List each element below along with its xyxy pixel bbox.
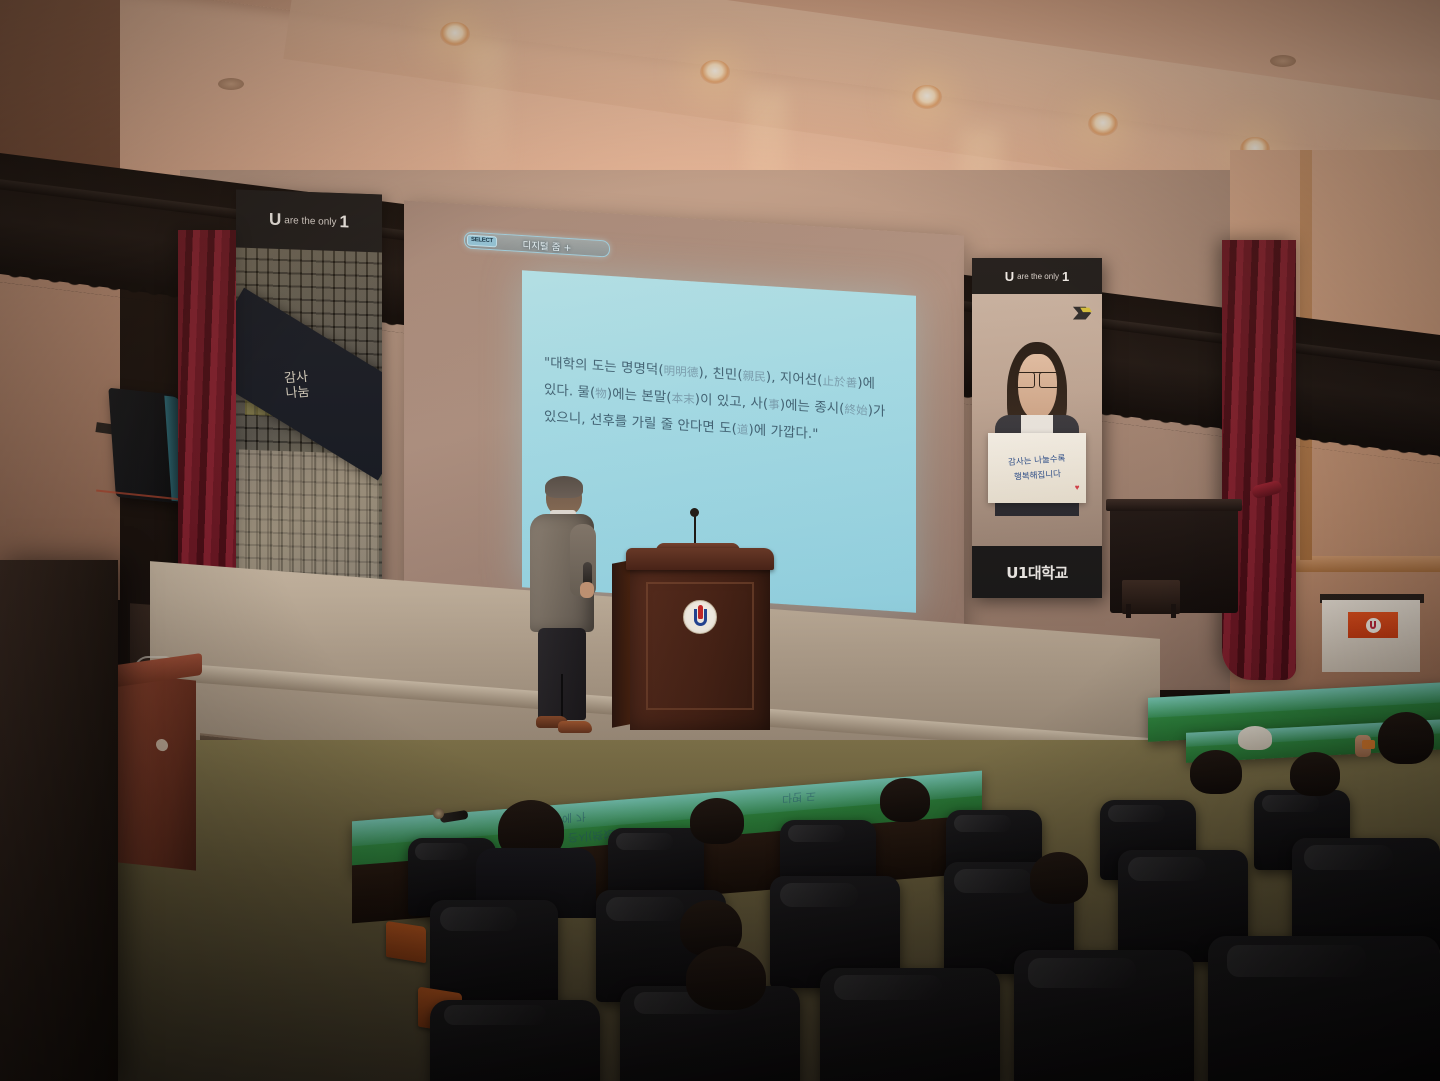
seat-highlight	[1227, 945, 1366, 978]
sign-line-1: 감사는 나눌수록	[1008, 452, 1066, 468]
seat-highlight	[440, 907, 517, 931]
seat-highlight	[415, 843, 468, 860]
u1-crest-icon	[1366, 618, 1381, 633]
ceiling-downlight	[440, 22, 470, 46]
seat-highlight	[954, 815, 1012, 833]
slide-hanja: 明明德	[664, 363, 699, 379]
wall-pa-speaker	[108, 388, 187, 505]
audience-head	[880, 778, 930, 822]
banner-left-photo-mosaic: 감사 나눔	[236, 247, 382, 600]
banner-left-one: 1	[340, 212, 349, 232]
slide-hanja: 親民	[743, 369, 766, 385]
banner-left-mid: are the only	[284, 215, 336, 228]
presenter-hand	[580, 582, 594, 598]
banner-right-photo: 감사는 나눌수록 행복해집니다 ♥	[972, 294, 1102, 546]
seat-highlight	[1108, 805, 1166, 823]
mosaic-lower-block	[239, 449, 379, 586]
banner-right-one: 1	[1062, 269, 1069, 284]
seat	[1208, 936, 1440, 1081]
ceiling-downlight	[1088, 112, 1118, 136]
desk-reflection-text: 다면 도	[782, 788, 816, 807]
slide-hanja: 本末	[672, 391, 695, 407]
ceiling-fixture-ring	[218, 78, 244, 90]
slide-seg: )에는 종시(	[780, 398, 845, 417]
audience-head	[1378, 712, 1434, 764]
piano-lid	[1106, 499, 1242, 511]
foreground-pillar	[0, 560, 118, 1081]
banner-left-tagline: U are the only 1	[236, 189, 382, 252]
seat-armrest	[386, 921, 426, 963]
crest-u-glyph	[1370, 621, 1376, 629]
banner-right-footer: U1대학교	[972, 546, 1102, 598]
crest-u-glyph	[694, 609, 707, 626]
banner-person-sign: 감사는 나눌수록 행복해집니다 ♥	[988, 433, 1087, 504]
audience-head	[1030, 852, 1088, 904]
seat-highlight	[780, 883, 858, 908]
audience-head	[686, 946, 766, 1010]
seat-highlight	[788, 825, 846, 843]
ceiling-downlight	[912, 85, 942, 109]
slide-text-block: "대학의 도는 명명덕(明明德), 친민(親民), 지어선(止於善)에 있다. …	[544, 350, 902, 454]
slide-hanja: 物	[595, 386, 607, 401]
sign-heart-icon: ♥	[1075, 483, 1080, 492]
banner-left-u: U	[269, 210, 281, 230]
presenter-hair	[545, 476, 583, 498]
bench-leg	[1126, 604, 1131, 618]
podium-desktop	[626, 548, 774, 570]
ceiling-fixture-ring	[1270, 55, 1296, 67]
audience-white-cap	[1238, 726, 1272, 750]
seat	[820, 968, 1000, 1081]
desk-reflection-text: 에 가	[562, 809, 586, 827]
slide-seg: "대학의 도는 명명덕(	[544, 356, 664, 379]
seat-highlight	[1028, 958, 1136, 987]
banner-right-corner-logo	[1071, 304, 1093, 324]
light-beam	[465, 40, 507, 190]
lectern-body	[108, 671, 196, 870]
seat	[1014, 950, 1194, 1081]
banner-person-glasses	[1015, 372, 1059, 387]
banner-right-tagline: U are the only 1	[972, 258, 1102, 294]
lectern-emblem	[156, 738, 168, 751]
seat-highlight	[616, 833, 674, 851]
slide-seg: )에 가깝다."	[749, 423, 819, 443]
audience-phone	[1362, 740, 1375, 749]
podium-crest-icon	[683, 600, 717, 634]
audience-head	[1290, 752, 1340, 796]
osd-select-badge: SELECT	[467, 235, 497, 248]
banner-right-u: U	[1005, 269, 1014, 284]
slide-seg: )에는 본말(	[607, 387, 672, 406]
ceiling-downlight	[700, 60, 730, 84]
slide-hanja: 止於善	[823, 374, 858, 390]
podium-mic-head	[690, 508, 699, 517]
seat-highlight	[444, 1005, 546, 1025]
banner-right-university: U1대학교	[1006, 562, 1068, 583]
seat-highlight	[834, 975, 942, 1001]
sign-line-2: 행복해집니다	[1013, 468, 1061, 483]
slide-seg: ), 친민(	[698, 366, 742, 384]
audience-head	[1190, 750, 1242, 794]
piano-bench	[1122, 580, 1180, 614]
presenter	[524, 478, 596, 743]
banner-right-mid: are the only	[1017, 272, 1059, 281]
podium-side-panel	[612, 560, 630, 727]
audience-head	[690, 798, 744, 844]
auditorium-photo: SELECT 디지털 줌 + "대학의 도는 명명덕(明明德), 친민(親民),…	[0, 0, 1440, 1081]
banner-right: U are the only 1 감사는 나눌수록 행복해집니다 ♥ U1대학교	[972, 258, 1102, 598]
seat-highlight	[1304, 845, 1393, 871]
stage-curtain-right	[1222, 240, 1296, 680]
cabinet-logo-sign	[1348, 612, 1398, 638]
podium	[626, 548, 774, 730]
seat	[430, 1000, 600, 1081]
slide-hanja: 終始	[845, 402, 868, 418]
slide-hanja: 道	[737, 422, 749, 437]
slide-seg: ), 지어선(	[766, 370, 823, 389]
slide-seg: )이 있고, 사(	[695, 393, 768, 413]
slide-hanja: 事	[768, 397, 780, 412]
bench-leg	[1171, 604, 1176, 618]
seat-highlight	[1128, 857, 1206, 882]
seat-highlight	[606, 897, 684, 922]
podium-body	[630, 568, 770, 730]
seat-highlight	[954, 869, 1032, 894]
presenter-shoe	[558, 721, 592, 733]
banner-left-ribbon-text: 감사 나눔	[261, 369, 334, 404]
seat-highlight	[1262, 795, 1320, 813]
presenter-leg-gap	[561, 674, 563, 720]
crest-flame-glyph	[698, 605, 703, 619]
